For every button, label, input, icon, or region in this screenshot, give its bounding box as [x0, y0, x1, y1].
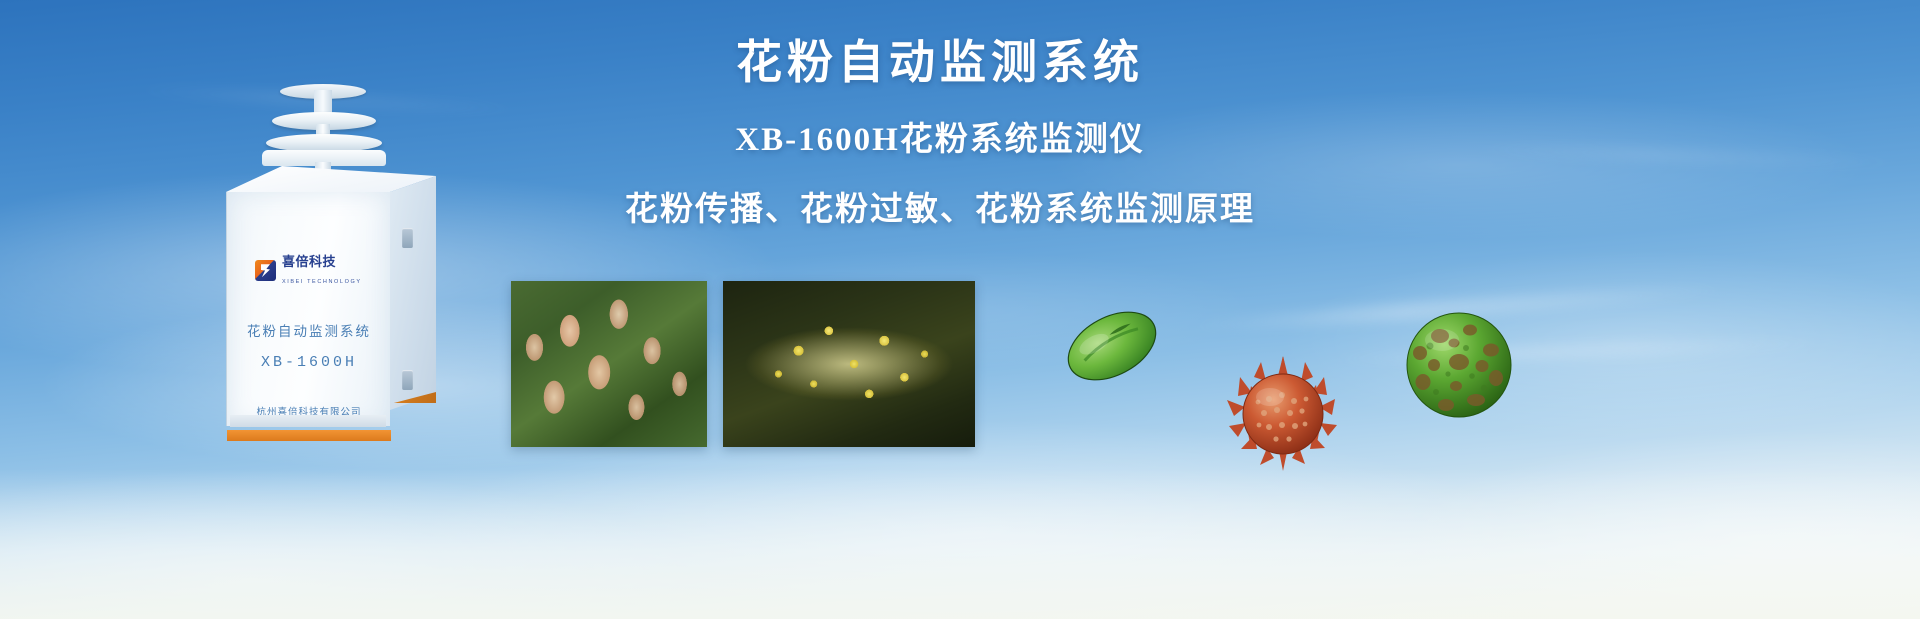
cloud-shape — [420, 420, 1520, 619]
warty-pollen-grain-icon — [1404, 310, 1514, 420]
photo-cypress-pollen-cones — [511, 281, 707, 447]
cloud-streak — [1460, 142, 1920, 170]
device-front-face: 喜倍科技 XIBEI TECHNOLOGY 花粉自动监测系统 XB-1600H … — [226, 192, 390, 426]
brand-name-en: XIBEI TECHNOLOGY — [282, 279, 362, 285]
device-latch-lower — [402, 370, 413, 390]
brand-name-cn: 喜倍科技 — [282, 254, 336, 269]
device-side-face — [390, 176, 436, 410]
ragweed-pollen-grain-icon — [1224, 355, 1342, 473]
cloud-shape — [0, 470, 700, 619]
cloud-shape — [1400, 430, 1920, 619]
device-base — [230, 415, 386, 427]
pollen-monitoring-banner: 花粉自动监测系统 XB-1600H花粉系统监测仪 花粉传播、花粉过敏、花粉系统监… — [0, 0, 1920, 619]
brand-text: 喜倍科技 XIBEI TECHNOLOGY — [282, 254, 362, 288]
horizon-haze — [0, 469, 1920, 619]
page-title: 花粉自动监测系统 — [560, 34, 1320, 92]
model-subtitle: XB-1600H花粉系统监测仪 — [560, 112, 1320, 160]
device-latch-upper — [402, 228, 413, 248]
topics-subtitle: 花粉传播、花粉过敏、花粉系统监测原理 — [560, 182, 1320, 230]
device-panel-title: 花粉自动监测系统 — [227, 320, 391, 340]
cloud-shape — [1280, 250, 1920, 440]
xibei-logo-icon — [255, 260, 276, 281]
pollen-monitor-device: 喜倍科技 XIBEI TECHNOLOGY 花粉自动监测系统 XB-1600H … — [196, 78, 476, 428]
cloud-streak — [1320, 336, 1840, 366]
device-panel-model: XB-1600H — [227, 354, 391, 371]
device-accent-stripe — [227, 430, 391, 441]
device-body: 喜倍科技 XIBEI TECHNOLOGY 花粉自动监测系统 XB-1600H … — [226, 166, 436, 426]
headline-block: 花粉自动监测系统 XB-1600H花粉系统监测仪 花粉传播、花粉过敏、花粉系统监… — [560, 34, 1320, 230]
grass-pollen-grain-icon — [1063, 305, 1161, 387]
device-brand-logo: 喜倍科技 XIBEI TECHNOLOGY — [255, 254, 362, 288]
photo-catkin-stamens — [723, 281, 975, 447]
